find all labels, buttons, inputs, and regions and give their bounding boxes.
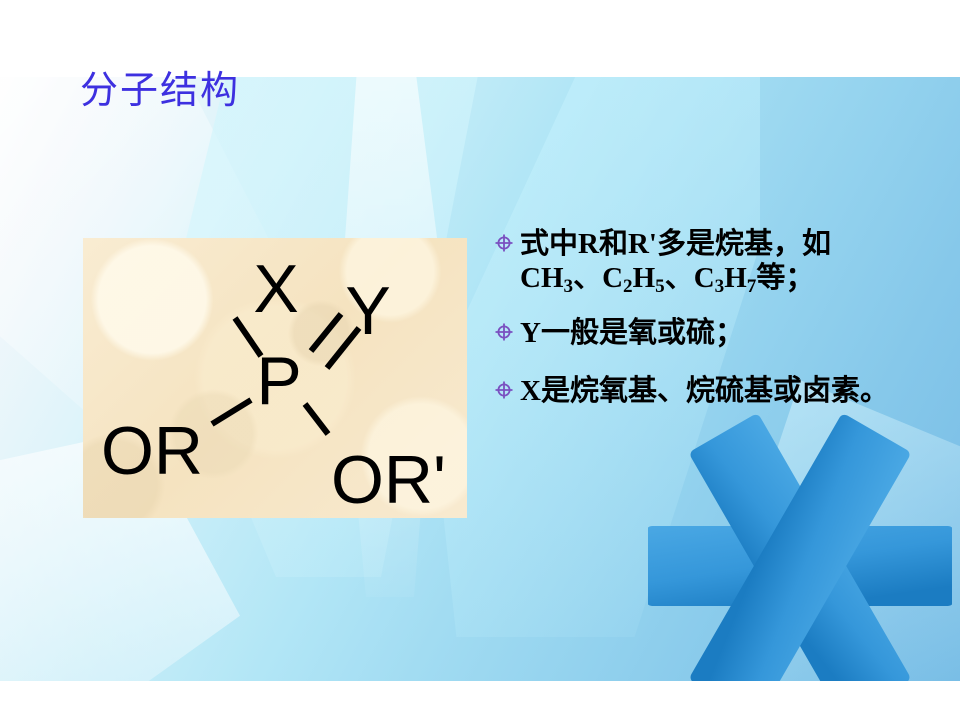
- bullet-item-y-group: Y一般是氧或硫；: [494, 317, 904, 351]
- bullet-item-x-group: X是烷氧基、烷硫基或卤素。: [494, 375, 904, 409]
- chemical-structure-image: X Y P OR OR': [83, 238, 467, 518]
- crosshair-target-bullet-icon: [494, 233, 514, 253]
- presentation-slide: 分子结构 X Y P OR OR': [0, 0, 960, 720]
- crosshair-target-bullet-icon: [494, 322, 514, 342]
- atom-label-y: Y: [345, 273, 390, 349]
- bond-p-or-prime: [305, 404, 328, 434]
- asterisk-star-shape-icon: [648, 414, 952, 718]
- atom-label-x: X: [253, 251, 298, 327]
- slide-bottom-white-band: [0, 681, 960, 720]
- slide-top-white-band: [0, 0, 960, 78]
- page-title: 分子结构: [80, 70, 240, 112]
- atom-label-or-prime: OR': [331, 442, 446, 518]
- atom-label-or: OR: [101, 413, 203, 489]
- bullet-text-x-group: X是烷氧基、烷硫基或卤素。: [520, 375, 889, 407]
- bond-p-y-line1: [311, 314, 341, 351]
- bullet-text-y-group: Y一般是氧或硫；: [520, 317, 744, 349]
- atom-label-p: P: [256, 343, 301, 419]
- bullet-list: 式中R和R'多是烷基，如CH3、C2H5、C3H7等； Y一般是氧或硫；: [494, 228, 904, 423]
- bullet-item-r-groups: 式中R和R'多是烷基，如CH3、C2H5、C3H7等；: [494, 228, 904, 295]
- crosshair-target-bullet-icon: [494, 380, 514, 400]
- bond-or-p: [212, 400, 251, 424]
- bullet-text-r-groups: 式中R和R'多是烷基，如CH3、C2H5、C3H7等；: [520, 228, 831, 294]
